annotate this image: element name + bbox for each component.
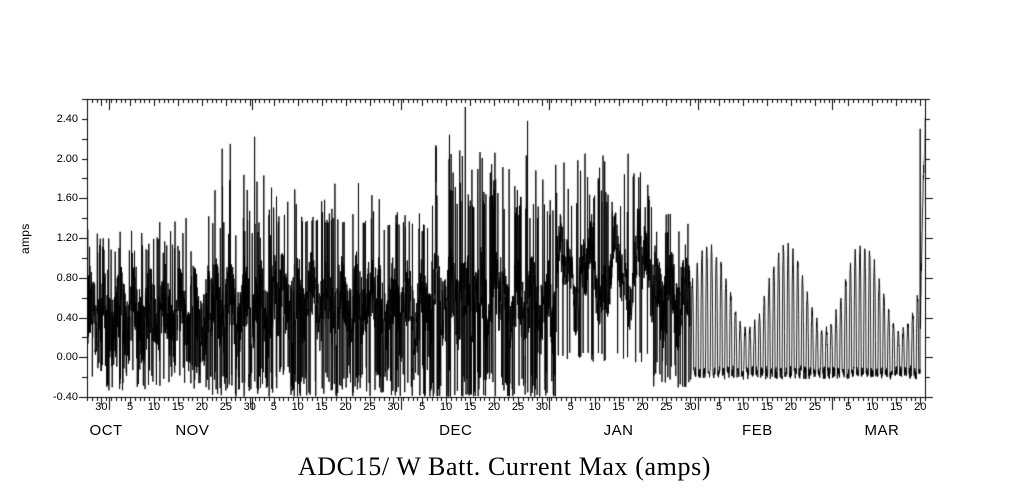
x-tick-label: 15 xyxy=(890,401,902,413)
x-tick-label: 20 xyxy=(914,401,926,413)
x-tick-label: 25 xyxy=(809,401,821,413)
y-tick-label: 2.40 xyxy=(34,113,78,125)
timeseries-plot xyxy=(0,0,1009,504)
x-tick-label: 15 xyxy=(612,401,624,413)
x-tick-label: 10 xyxy=(148,401,160,413)
x-tick-label: 30 xyxy=(387,401,399,413)
x-tick-label: 25 xyxy=(220,401,232,413)
x-month-label: DEC xyxy=(439,422,472,439)
y-tick-label: 1.20 xyxy=(34,232,78,244)
x-tick-label: 10 xyxy=(292,401,304,413)
y-axis-title: amps xyxy=(18,226,32,254)
x-tick-label: 30 xyxy=(244,401,256,413)
x-tick-label: 5 xyxy=(127,401,133,413)
x-month-label: JAN xyxy=(604,422,634,439)
x-tick-label: 20 xyxy=(196,401,208,413)
x-tick-label: 30 xyxy=(95,401,107,413)
x-tick-label: 10 xyxy=(440,401,452,413)
x-tick-label: 10 xyxy=(737,401,749,413)
x-tick-label: 25 xyxy=(660,401,672,413)
x-tick-label: 30 xyxy=(536,401,548,413)
x-month-label: MAR xyxy=(864,422,899,439)
x-tick-label: 15 xyxy=(761,401,773,413)
x-tick-label: 25 xyxy=(363,401,375,413)
x-tick-label: 10 xyxy=(588,401,600,413)
x-month-label: FEB xyxy=(742,422,773,439)
x-tick-label: 20 xyxy=(785,401,797,413)
x-tick-label: 20 xyxy=(339,401,351,413)
x-tick-label: 15 xyxy=(316,401,328,413)
x-month-label: OCT xyxy=(90,422,123,439)
figure-caption: ADC15/ W Batt. Current Max (amps) xyxy=(0,452,1009,482)
x-tick-label: 30 xyxy=(684,401,696,413)
y-tick-label: -0.40 xyxy=(34,391,78,403)
x-tick-label: 5 xyxy=(271,401,277,413)
x-tick-label: 5 xyxy=(845,401,851,413)
x-tick-label: 10 xyxy=(866,401,878,413)
x-tick-label: 15 xyxy=(172,401,184,413)
y-tick-label: 0.80 xyxy=(34,272,78,284)
y-tick-label: 1.60 xyxy=(34,192,78,204)
y-tick-label: 0.00 xyxy=(34,351,78,363)
x-month-label: NOV xyxy=(175,422,209,439)
x-tick-label: 5 xyxy=(716,401,722,413)
x-tick-label: 25 xyxy=(512,401,524,413)
x-tick-label: 15 xyxy=(464,401,476,413)
x-tick-label: 20 xyxy=(636,401,648,413)
x-tick-label: 5 xyxy=(568,401,574,413)
x-tick-label: 20 xyxy=(488,401,500,413)
y-tick-label: 0.40 xyxy=(34,312,78,324)
x-tick-label: 5 xyxy=(419,401,425,413)
y-tick-label: 2.00 xyxy=(34,153,78,165)
figure-root: LONGITUDE : 122.9W(-122.9) LATITUDE : 36… xyxy=(0,0,1009,504)
